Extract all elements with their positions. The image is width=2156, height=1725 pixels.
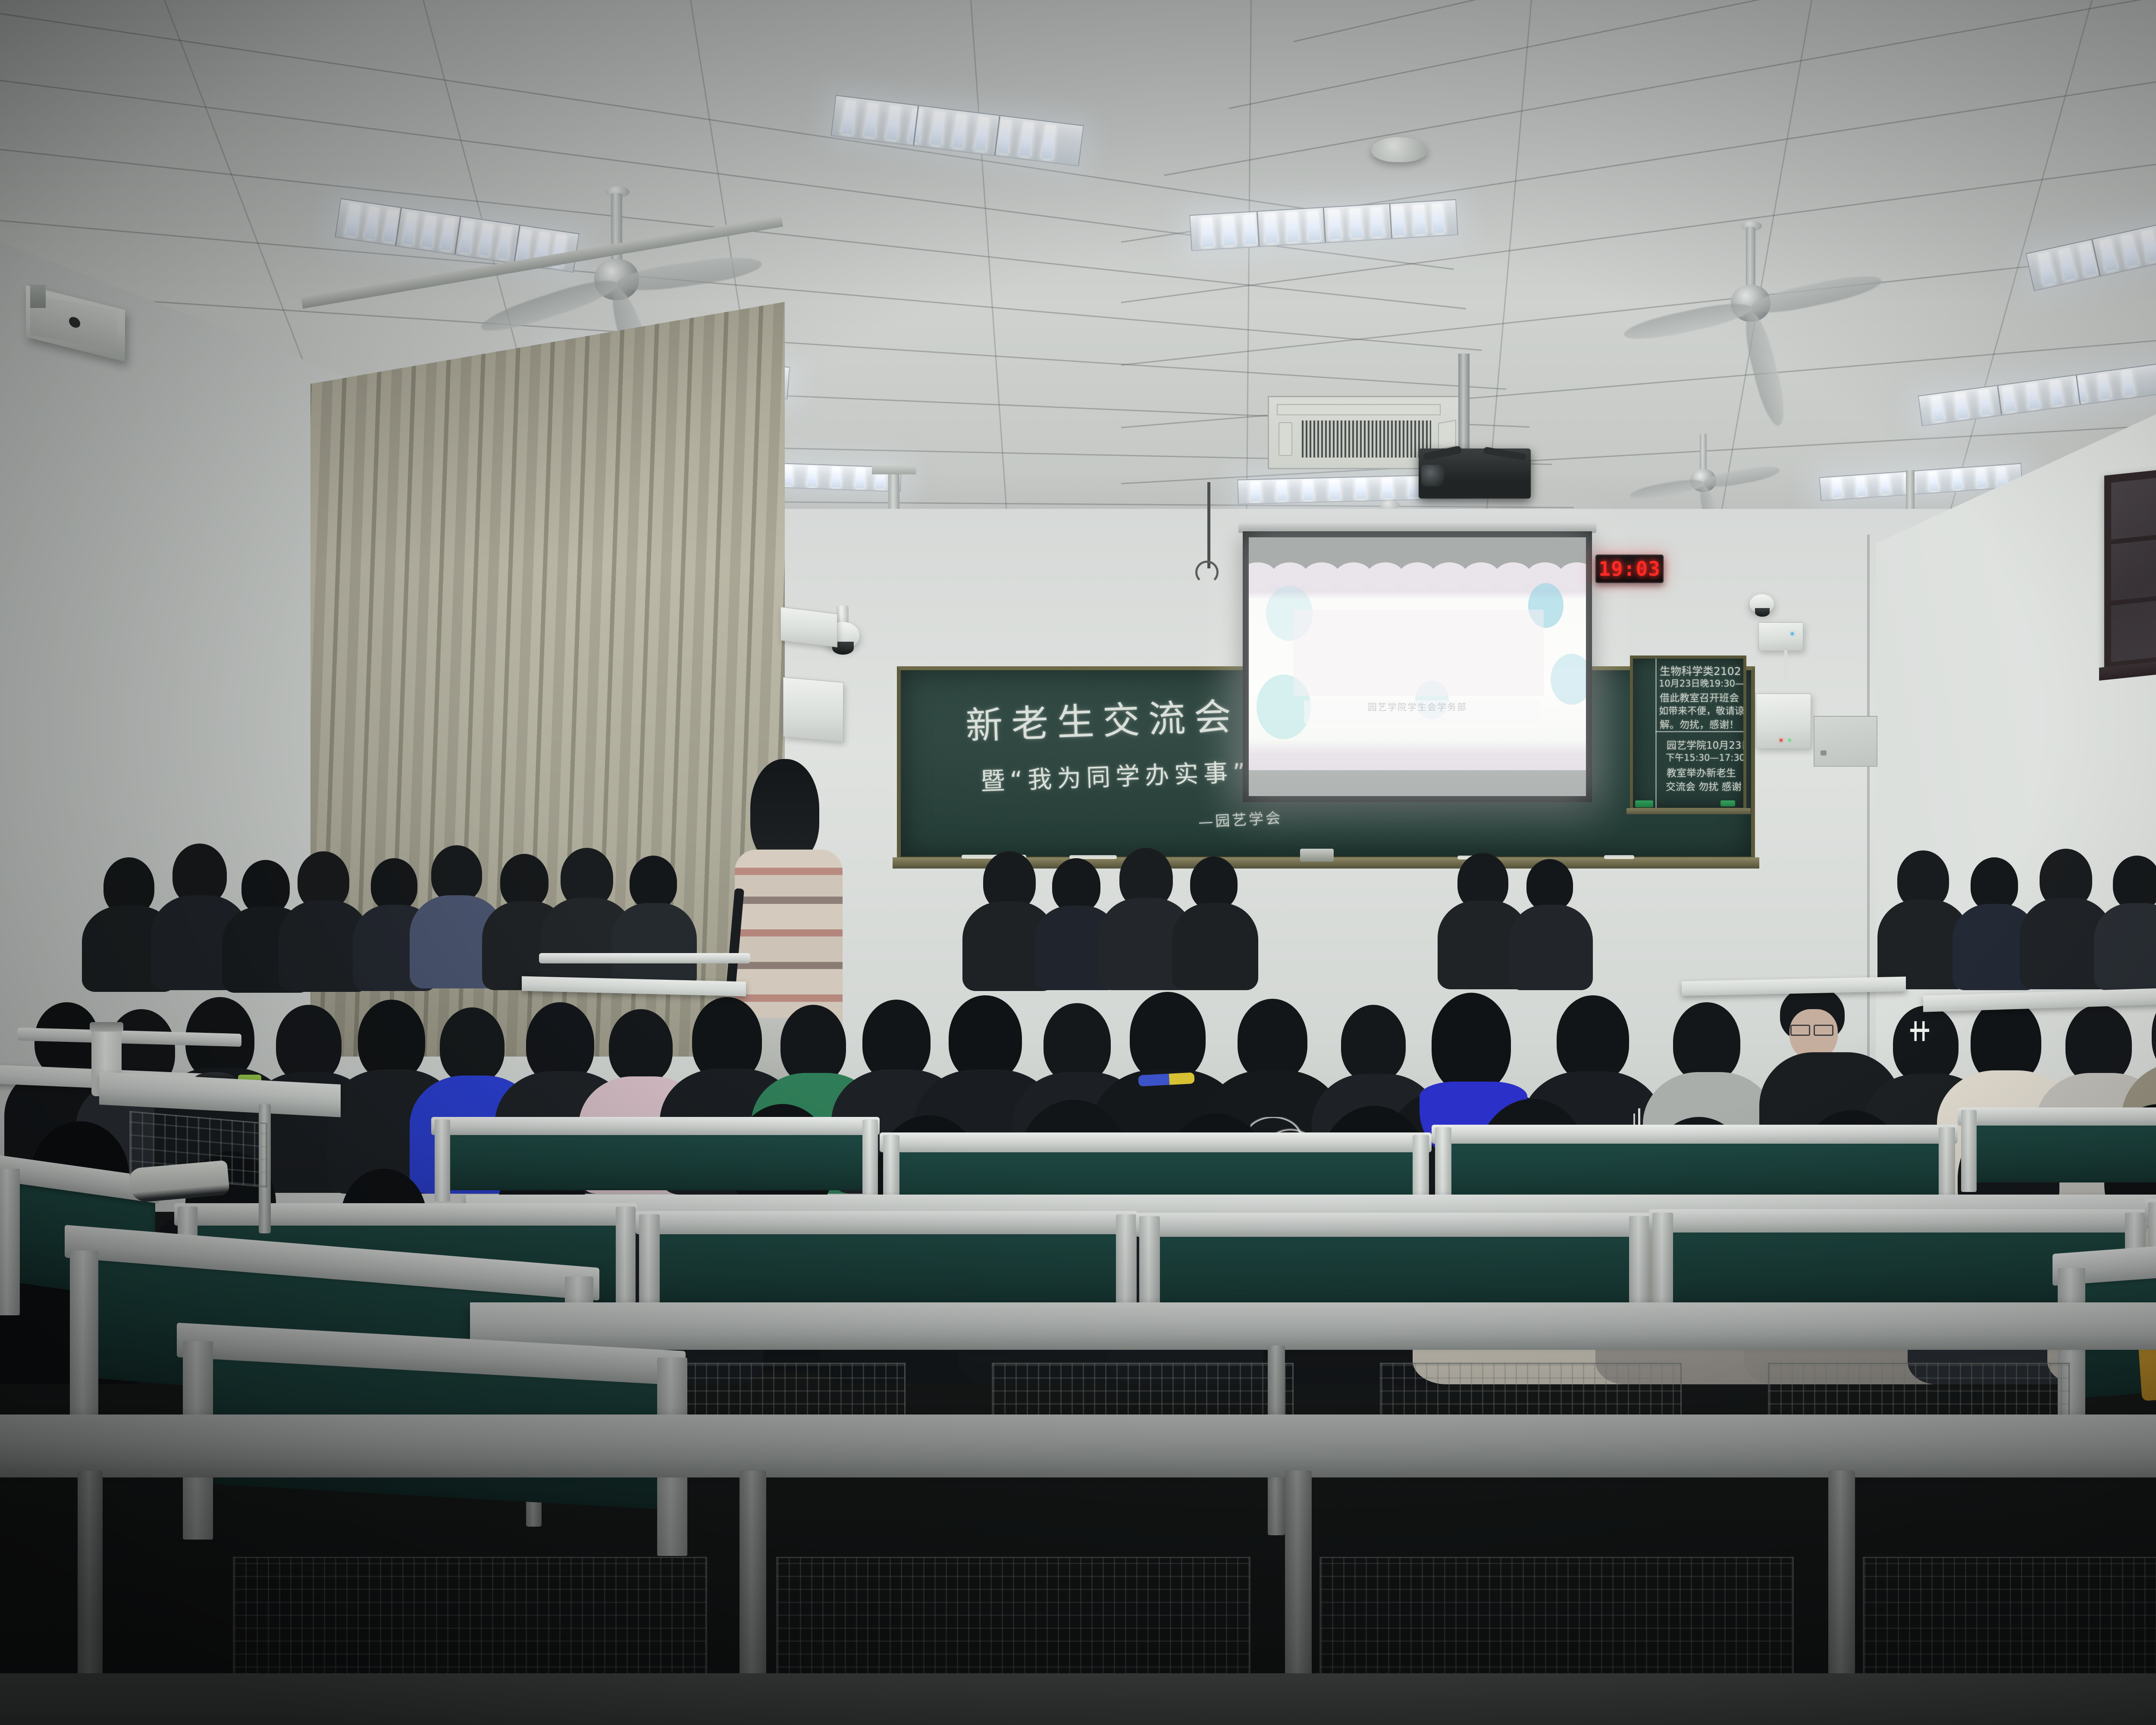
projection-screen-frame: 园艺学院学生会学务部 xyxy=(1243,531,1592,802)
blackboard-line: —园艺学会 xyxy=(1198,806,1283,831)
clock-time: 19:03 xyxy=(1598,557,1660,580)
notice-line: 教室举办新老生 xyxy=(1667,765,1736,779)
dome-camera-lens xyxy=(1755,608,1770,617)
seat-post xyxy=(862,1120,878,1201)
wall-control-box xyxy=(1758,622,1803,651)
desk xyxy=(470,1302,2156,1339)
thermos-lid[interactable] xyxy=(90,1022,123,1032)
book-basket xyxy=(1319,1557,1794,1682)
ceiling-pipe-stub xyxy=(872,465,916,474)
seat-post xyxy=(70,1251,98,1432)
eyeglasses-icon xyxy=(1814,1025,1833,1036)
seat-rail xyxy=(174,1203,637,1226)
standing-student-hair xyxy=(750,759,819,862)
seat-rail xyxy=(1136,1213,1651,1237)
seat-post xyxy=(0,1169,20,1315)
ac-grille xyxy=(1302,420,1431,458)
board-eraser[interactable] xyxy=(1635,800,1653,807)
classroom-photo: 新老生交流会 暨“我为同学办实事”活动 —园艺学会 生物科学类2102 10月2… xyxy=(0,0,2156,1725)
seat-post xyxy=(1961,1110,1977,1192)
board-eraser[interactable] xyxy=(1720,800,1735,806)
notice-board-tray xyxy=(1626,808,1751,814)
window xyxy=(2104,463,2156,671)
screen-title-block xyxy=(1294,610,1544,696)
hair-clip xyxy=(1910,1021,1929,1041)
seat-back xyxy=(647,1229,1125,1314)
notice-line: 10月23日晚19:30—21:00 xyxy=(1659,677,1746,690)
book-basket xyxy=(233,1557,707,1682)
desk-edge xyxy=(470,1336,2156,1350)
wall-control-box xyxy=(1756,693,1811,749)
smoke-detector-icon xyxy=(1380,500,1400,510)
seat-rail xyxy=(880,1132,1432,1152)
notice-line: 下午15:30—17:30借此 xyxy=(1666,751,1746,764)
seat-rail xyxy=(1958,1107,2156,1126)
book-basket xyxy=(776,1557,1250,1682)
screen-pull-hook[interactable] xyxy=(1195,561,1219,584)
seat-post xyxy=(616,1207,636,1314)
seat-rail xyxy=(539,953,750,963)
notice-line: 如带来不便，敬请谅 xyxy=(1659,703,1744,717)
seat-rail xyxy=(1432,1125,1958,1144)
seat-post xyxy=(435,1120,450,1201)
notice-line: 借此教室召开班会 xyxy=(1660,690,1739,704)
speaker-bracket xyxy=(30,285,46,308)
floor xyxy=(0,1673,2156,1725)
electrical-panel[interactable] xyxy=(1814,716,1877,767)
projector-lens xyxy=(1421,465,1445,486)
blackboard-line: 新老生交流会 xyxy=(965,686,1241,750)
seat-back xyxy=(1440,1138,1949,1201)
screen-subtitle: 园艺学院学生会学务部 xyxy=(1249,700,1586,713)
seat-back xyxy=(1966,1121,2156,1182)
ceiling-pipe-stub xyxy=(1906,470,1915,509)
screen-decoration-circle xyxy=(1551,654,1586,705)
desk xyxy=(0,1414,2156,1462)
seat-rail xyxy=(1649,1209,2147,1233)
seat-back xyxy=(440,1130,871,1190)
smoke-detector-icon xyxy=(1371,137,1427,162)
projection-screen-surface: 园艺学院学生会学务部 xyxy=(1249,537,1586,796)
screen-pull-cable[interactable] xyxy=(1207,482,1210,568)
wall-control-box xyxy=(783,677,843,742)
notice-blackboard: 生物科学类2102 10月23日晚19:30—21:00 借此教室召开班会 如带… xyxy=(1630,655,1746,811)
control-box-cable xyxy=(1784,650,1787,680)
eyeglasses-icon xyxy=(1790,1025,1810,1036)
notice-line: 园艺学院10月23日 xyxy=(1667,737,1746,752)
seat-rail xyxy=(636,1211,1138,1234)
panel-latch[interactable] xyxy=(1821,750,1827,756)
notice-line: 生物科学类2102 xyxy=(1660,663,1741,678)
book-basket xyxy=(1863,1557,2156,1682)
seat-rail xyxy=(431,1117,880,1135)
notice-line: 交流会 勿扰 感谢 xyxy=(1666,778,1742,793)
wall-speaker-box xyxy=(780,607,837,647)
notice-line: 解。勿扰，感谢！ xyxy=(1660,716,1739,731)
digital-clock: 19:03 xyxy=(1595,555,1664,583)
